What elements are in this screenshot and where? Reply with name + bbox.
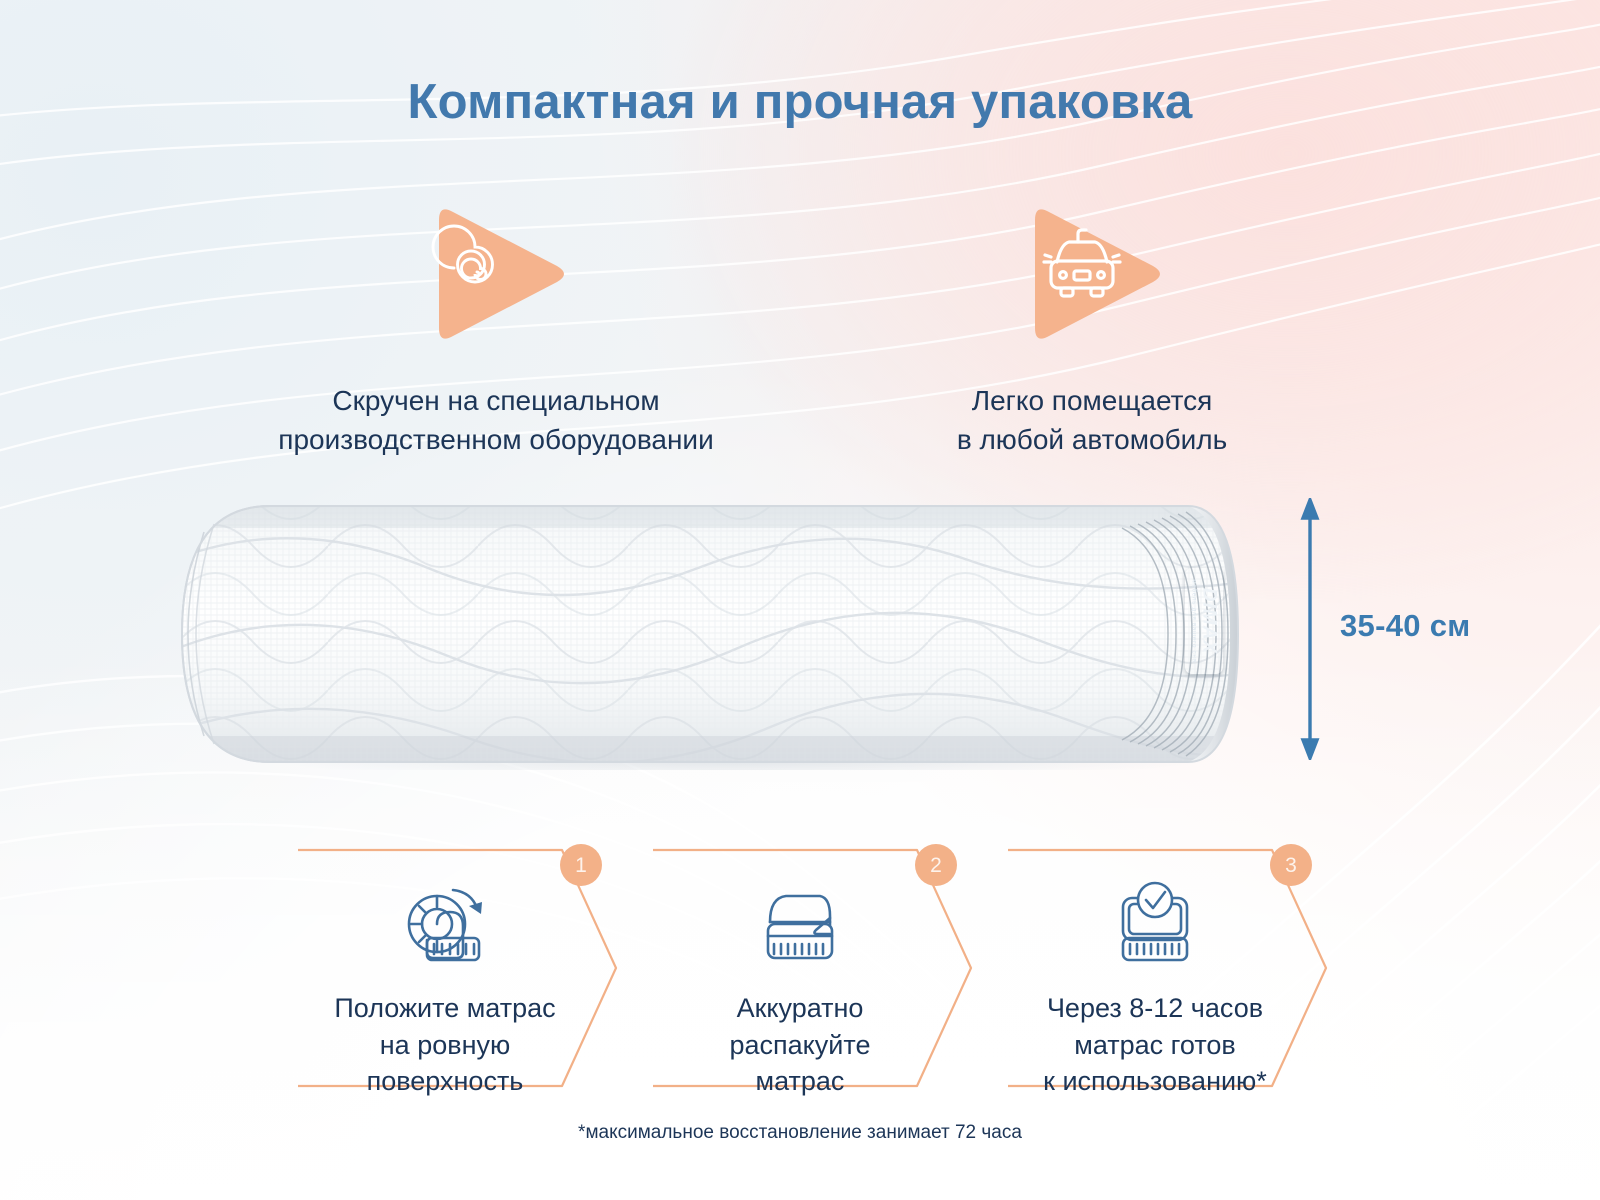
step-card-2: 2 Аккуратно распакуйте матрас: [645, 842, 985, 1094]
feature-block-rolled: Скручен на специальном производственном …: [186, 200, 806, 459]
mattress-check-icon: [1103, 874, 1207, 978]
rolled-mattress-unroll-icon: [393, 874, 497, 978]
play-triangle-badge: [186, 200, 806, 360]
rolled-mattress-image: [178, 498, 1273, 770]
infographic-canvas: Компактная и прочная упаковка Скручен на…: [0, 0, 1600, 1200]
feature-caption: Скручен на специальном производственном …: [186, 382, 806, 459]
step-icon-1: [290, 874, 600, 978]
step-text-1: Положите матрас на ровную поверхность: [290, 990, 600, 1100]
steps-row: 1 Положите матрас на ровную поверхно: [290, 842, 1310, 1094]
dimension-label: 35-40 см: [1340, 608, 1470, 644]
step-icon-2: [645, 874, 955, 978]
step-text-3: Через 8-12 часов матрас готов к использо…: [1000, 990, 1310, 1100]
play-triangle-badge: [812, 200, 1372, 360]
mattress-unwrap-icon: [748, 874, 852, 978]
step-card-1: 1 Положите матрас на ровную поверхно: [290, 842, 630, 1094]
brand-tagline: мебель для вашего сна: [1190, 579, 1197, 662]
footnote-text: *максимальное восстановление занимает 72…: [0, 1122, 1600, 1144]
step-card-3: 3 Через 8-12 часов матрас готов к исполь…: [1000, 842, 1340, 1094]
brand-name: DIMAX: [1199, 579, 1218, 662]
feature-block-car: Легко помещается в любой автомобиль: [812, 200, 1372, 459]
step-text-2: Аккуратно распакуйте матрас: [645, 990, 955, 1100]
spiral-roll-icon: [421, 200, 571, 348]
car-front-icon: [1017, 200, 1167, 348]
step-icon-3: [1000, 874, 1310, 978]
brand-label-tag: DIMAX мебель для вашего сна: [1185, 568, 1223, 674]
page-title: Компактная и прочная упаковка: [0, 74, 1600, 130]
dimension-arrow: [1290, 498, 1330, 760]
feature-caption: Легко помещается в любой автомобиль: [812, 382, 1372, 459]
